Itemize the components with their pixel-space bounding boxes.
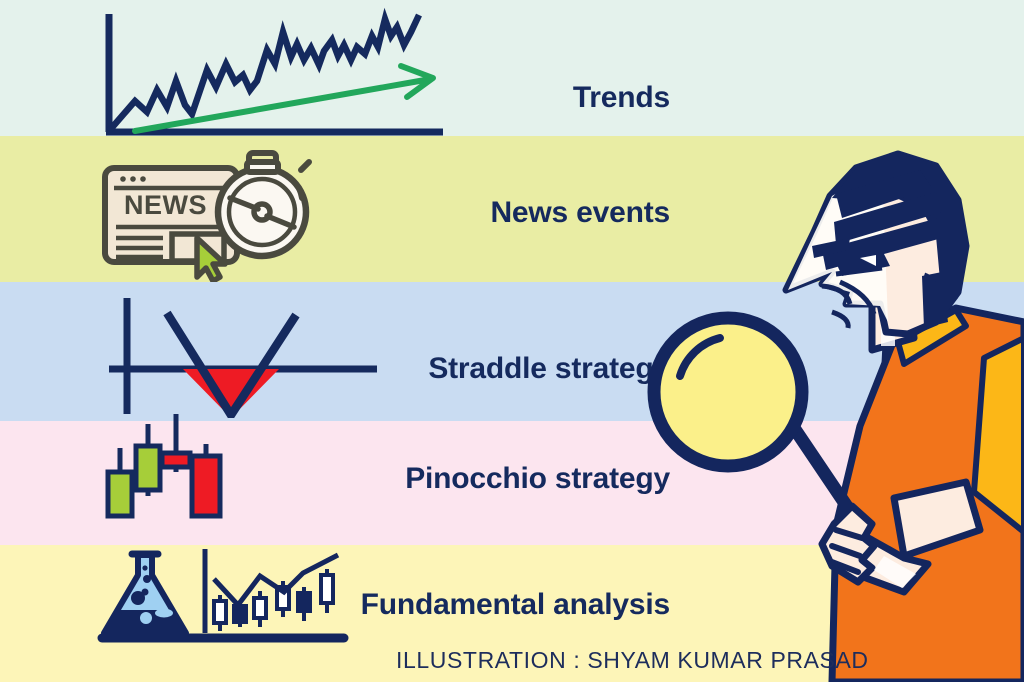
row-label-pinocchio: Pinocchio strategy xyxy=(405,462,670,496)
row-label-trends: Trends xyxy=(573,81,670,115)
infographic-canvas: NEWS xyxy=(0,0,1024,682)
news-window-stopwatch-icon: NEWS xyxy=(96,140,326,282)
news-wordmark: NEWS xyxy=(124,190,207,220)
flask-candlestick-chart-icon xyxy=(88,543,350,647)
row-label-straddle: Straddle strategy xyxy=(428,352,670,386)
row-label-fundamental: Fundamental analysis xyxy=(361,588,670,622)
uptrend-line-chart-icon xyxy=(95,2,455,138)
straddle-payoff-diagram-icon xyxy=(95,288,380,418)
candlestick-pinbar-icon xyxy=(100,414,230,542)
man-with-magnifying-glass xyxy=(636,126,1024,682)
magnifier-lens xyxy=(654,318,802,466)
figure-mouth xyxy=(832,312,848,328)
illustration-credit: ILLUSTRATION : SHYAM KUMAR PRASAD xyxy=(396,647,869,674)
